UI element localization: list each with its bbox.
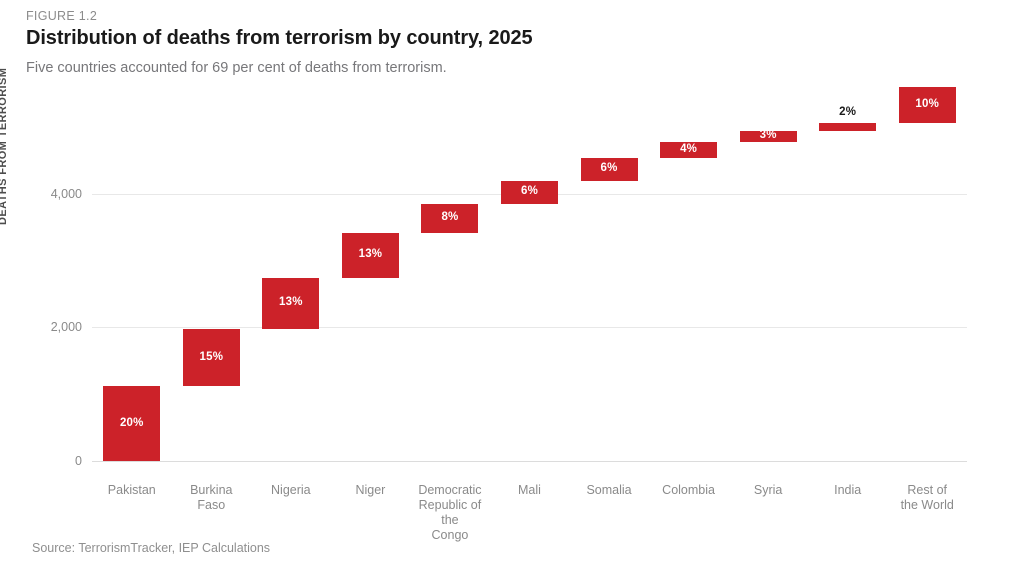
page-title: Distribution of deaths from terrorism by…	[26, 27, 533, 50]
bar-value-label: 13%	[279, 297, 303, 309]
x-tick-label-mali: Mali	[490, 483, 570, 498]
x-tick-label-pakistan: Pakistan	[92, 483, 172, 498]
gridline-0	[92, 461, 967, 462]
bar-value-label: 8%	[441, 212, 458, 224]
x-tick-label-niger: Niger	[331, 483, 411, 498]
bar-rest-of-the-world[interactable]: 10%	[899, 87, 956, 123]
bar-syria[interactable]: 3%	[740, 131, 797, 142]
bar-mali[interactable]: 6%	[501, 181, 558, 204]
bar-value-label: 15%	[200, 352, 224, 364]
x-tick-label-syria: Syria	[728, 483, 808, 498]
x-tick-label-nigeria: Nigeria	[251, 483, 331, 498]
figure-container: FIGURE 1.2 Distribution of deaths from t…	[0, 0, 1024, 569]
bar-value-label: 20%	[120, 418, 144, 430]
bar-value-label: 4%	[680, 144, 697, 156]
bar-value-label: 3%	[760, 130, 777, 142]
bar-value-label: 2%	[839, 107, 856, 119]
x-tick-label-colombia: Colombia	[649, 483, 729, 498]
x-tick-label-india: India	[808, 483, 888, 498]
chart-plot-area: 20%15%13%13%8%6%6%4%3%2%10%	[92, 90, 967, 461]
y-tick-label-0: 0	[75, 454, 82, 468]
x-tick-label-somalia: Somalia	[569, 483, 649, 498]
bar-burkina-faso[interactable]: 15%	[183, 329, 240, 386]
bar-democratic-republic-of-the-congo[interactable]: 8%	[421, 204, 478, 233]
x-tick-label-burkina-faso: Burkina Faso	[172, 483, 252, 513]
bar-india[interactable]	[819, 123, 876, 131]
x-tick-label-democratic-republic-of-the-congo: Democratic Republic of the Congo	[410, 483, 490, 543]
x-tick-label-rest-of-the-world: Rest of the World	[887, 483, 967, 513]
bar-nigeria[interactable]: 13%	[262, 278, 319, 329]
bar-value-label: 13%	[359, 249, 383, 261]
y-tick-label-2000: 2,000	[51, 320, 82, 334]
bar-value-label: 6%	[601, 163, 618, 175]
figure-subtitle: Five countries accounted for 69 per cent…	[26, 60, 447, 76]
y-axis-tick-labels: 02,0004,000	[0, 90, 92, 461]
bar-value-label: 6%	[521, 186, 538, 198]
y-tick-label-4000: 4,000	[51, 187, 82, 201]
bar-value-label: 10%	[915, 99, 939, 111]
figure-number: FIGURE 1.2	[26, 9, 97, 23]
bar-niger[interactable]: 13%	[342, 233, 399, 278]
source-note: Source: TerrorismTracker, IEP Calculatio…	[32, 541, 270, 555]
bar-colombia[interactable]: 4%	[660, 142, 717, 158]
bar-somalia[interactable]: 6%	[581, 158, 638, 181]
bar-pakistan[interactable]: 20%	[103, 386, 160, 461]
